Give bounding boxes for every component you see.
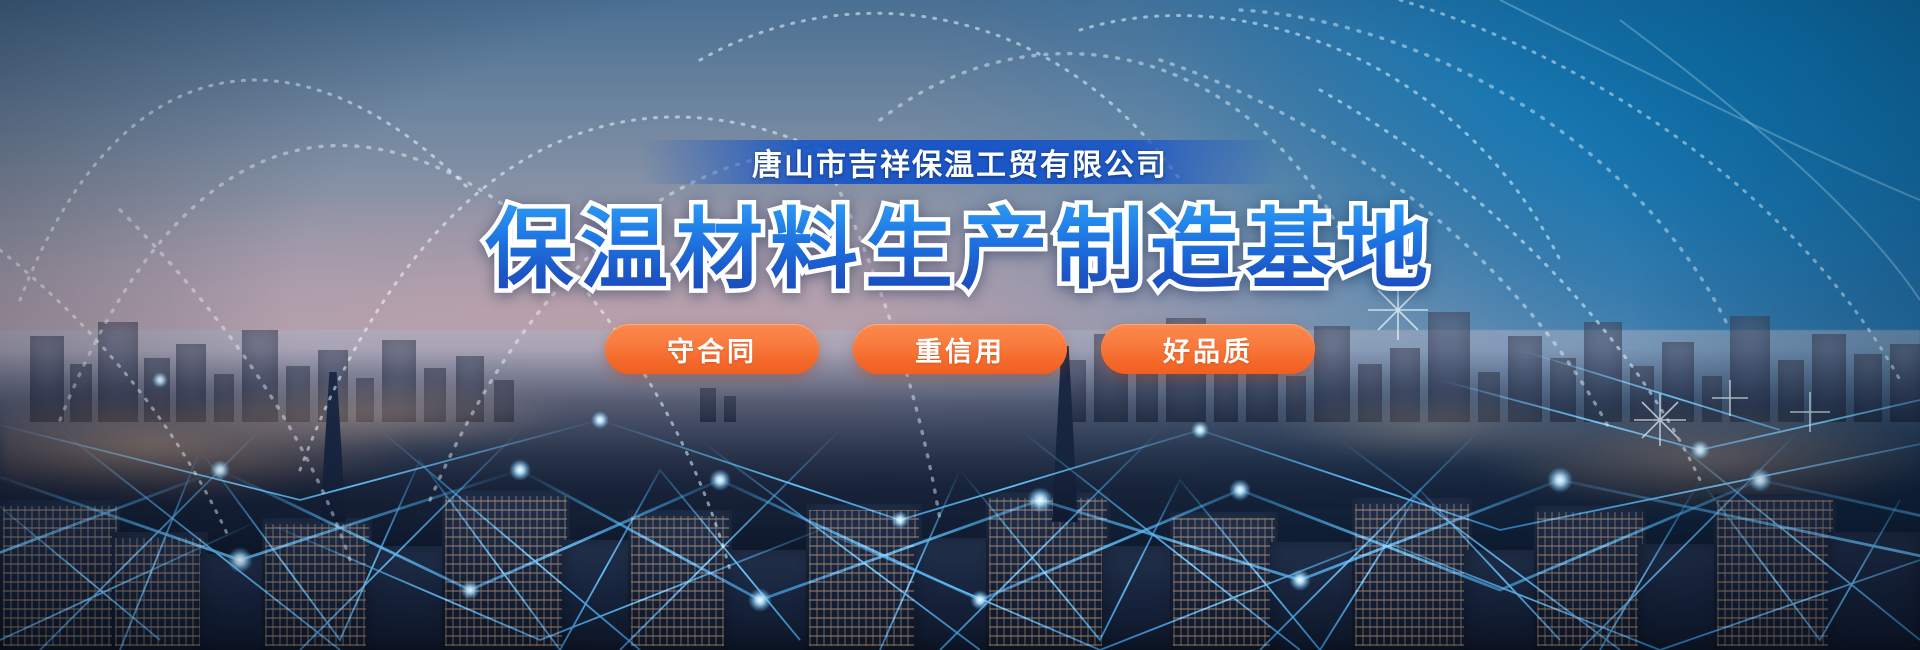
badge-pill-contract[interactable]: 守合同 — [605, 324, 819, 374]
badge-label: 重信用 — [915, 330, 1005, 369]
badge-label: 好品质 — [1163, 330, 1253, 369]
company-name-text: 唐山市吉祥保温工贸有限公司 — [752, 140, 1168, 184]
badge-pill-credit[interactable]: 重信用 — [853, 324, 1067, 374]
hero-banner: .arc { fill:none; stroke:#cfe6f7; stroke… — [0, 0, 1920, 650]
badge-pill-quality[interactable]: 好品质 — [1101, 324, 1315, 374]
main-headline: 保温材料生产制造基地 保温材料生产制造基地 — [485, 206, 1435, 294]
badge-label: 守合同 — [667, 330, 757, 369]
headline-fill-layer: 保温材料生产制造基地 — [485, 200, 1435, 299]
headline-wrapper: 保温材料生产制造基地 保温材料生产制造基地 — [485, 198, 1435, 302]
badge-list: 守合同 重信用 好品质 — [605, 324, 1315, 374]
company-name-band: 唐山市吉祥保温工贸有限公司 — [640, 140, 1280, 184]
banner-content: 唐山市吉祥保温工贸有限公司 保温材料生产制造基地 保温材料生产制造基地 守合同 … — [0, 0, 1920, 650]
